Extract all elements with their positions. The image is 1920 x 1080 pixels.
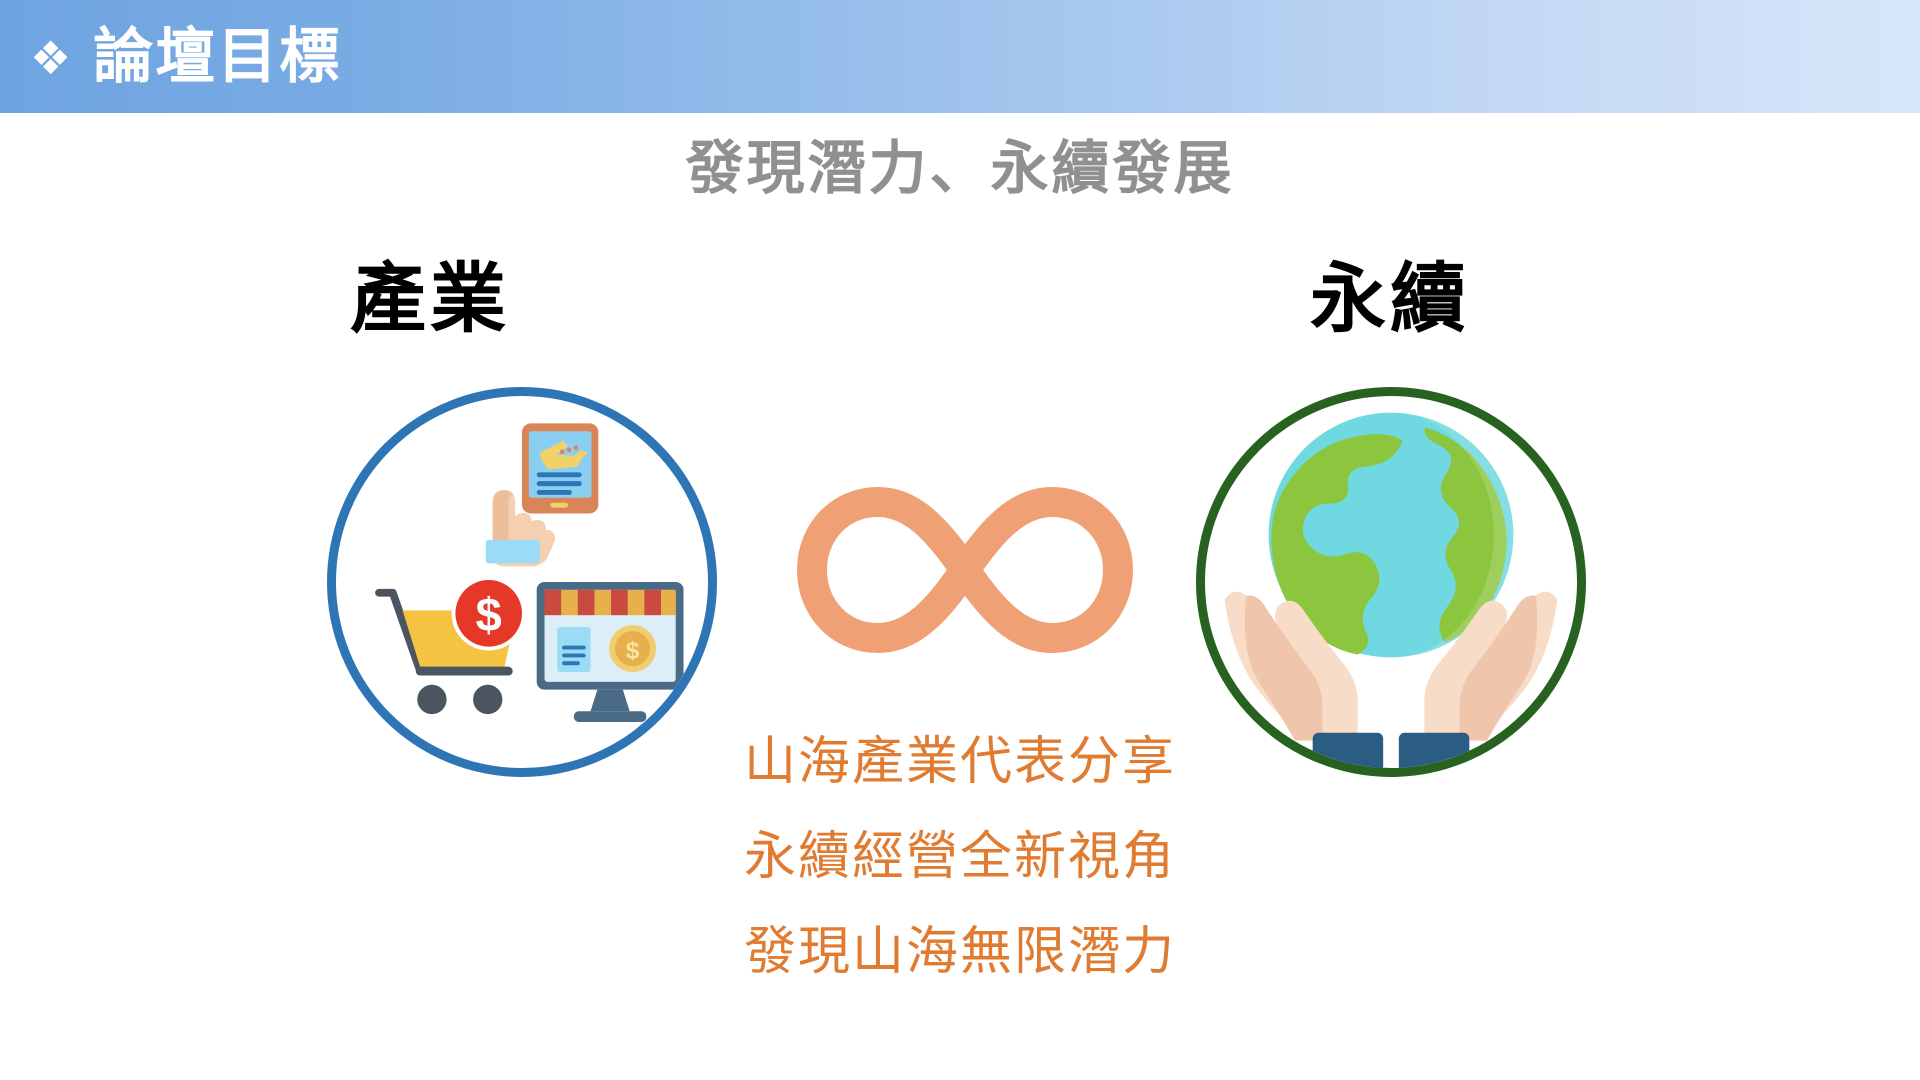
- ecommerce-shopping-illustration: $ $: [336, 396, 708, 768]
- infinity-icon: [790, 470, 1140, 670]
- sustainability-icon-circle: [1196, 387, 1586, 777]
- hands-holding-globe-illustration: [1205, 396, 1577, 768]
- slide-subtitle: 發現潛力、永續發展: [0, 136, 1920, 203]
- bullet-text-group: 山海產業代表分享 永續經營全新視角 發現山海無限潛力: [730, 736, 1190, 978]
- bullet-line-3: 發現山海無限潛力: [730, 926, 1190, 978]
- page-title: 論壇目標: [93, 27, 341, 87]
- diamond-bullet-icon: ❖: [30, 35, 71, 81]
- column-heading-industry: 產業: [350, 262, 510, 338]
- slide-header-bar: ❖ 論壇目標: [0, 0, 1920, 113]
- svg-text:$: $: [476, 588, 502, 641]
- industry-icon-circle: $ $: [327, 387, 717, 777]
- infinity-icon-wrapper: [790, 470, 1140, 670]
- svg-text:$: $: [626, 637, 640, 664]
- column-heading-sustainability: 永續: [1310, 262, 1470, 338]
- bullet-line-2: 永續經營全新視角: [730, 831, 1190, 883]
- bullet-line-1: 山海產業代表分享: [730, 736, 1190, 788]
